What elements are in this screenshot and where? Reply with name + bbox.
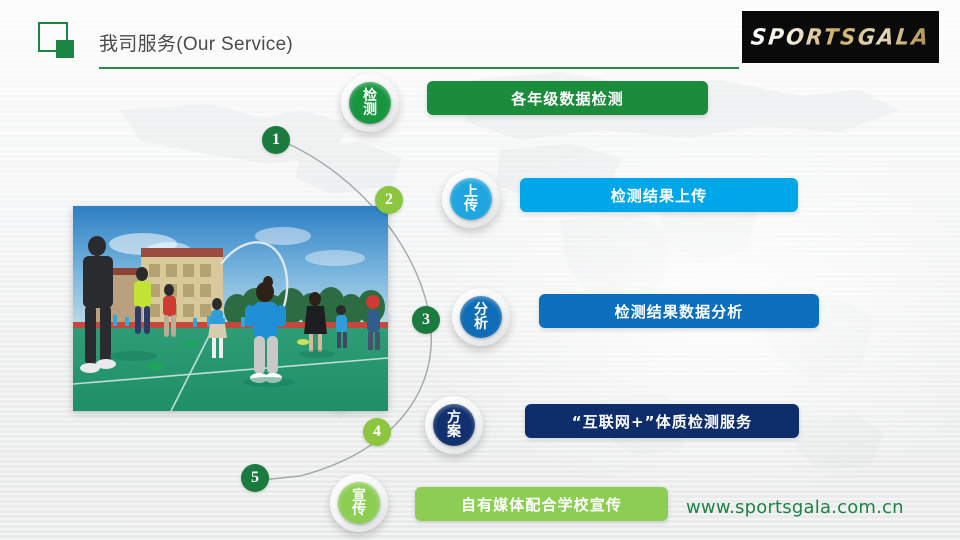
stage-label-analysis-char1: 分: [474, 303, 488, 317]
logo-filled-square: [56, 40, 74, 58]
step-number-5: 5: [241, 464, 269, 492]
stage-circle-promotion-inner: 宣 传: [338, 482, 380, 524]
slide-canvas: 我司服务(Our Service) SPORTSGALA: [0, 0, 960, 540]
stage-label-analysis-char2: 析: [474, 317, 488, 331]
stage-bar-promotion[interactable]: 自有媒体配合学校宣传: [415, 487, 668, 521]
stage-bar-plan[interactable]: “互联网+”体质检测服务: [525, 404, 799, 438]
brand-logo-text: SPORTSGALA: [750, 24, 932, 49]
stage-label-plan-char2: 案: [447, 425, 461, 439]
page-title: 我司服务(Our Service): [99, 29, 293, 56]
stage-label-promotion-char2: 传: [352, 503, 366, 517]
stage-bar-upload[interactable]: 检测结果上传: [520, 178, 798, 212]
playground-photo: [73, 206, 388, 411]
step-number-4: 4: [363, 418, 391, 446]
stage-circle-detection-inner: 检 测: [349, 82, 391, 124]
step-number-2: 2: [375, 186, 403, 214]
stage-label-upload-char1: 上: [464, 185, 478, 199]
stage-circle-analysis[interactable]: 分 析: [452, 288, 510, 346]
stage-circle-analysis-inner: 分 析: [460, 296, 502, 338]
stage-circle-plan[interactable]: 方 案: [425, 396, 483, 454]
brand-logo-badge: SPORTSGALA: [742, 11, 939, 63]
stage-bar-detection[interactable]: 各年级数据检测: [427, 81, 708, 115]
website-url[interactable]: www.sportsgala.com.cn: [686, 497, 904, 518]
step-number-1: 1: [262, 126, 290, 154]
green-square-logo-icon: [38, 22, 74, 58]
stage-label-detection-char2: 测: [363, 103, 377, 117]
stage-circle-plan-inner: 方 案: [433, 404, 475, 446]
slide-header: 我司服务(Our Service) SPORTSGALA: [0, 0, 960, 72]
stage-circle-upload-inner: 上 传: [450, 178, 492, 220]
stage-label-plan-char1: 方: [447, 411, 461, 425]
step-number-3: 3: [412, 306, 440, 334]
stage-circle-upload[interactable]: 上 传: [442, 170, 500, 228]
stage-circle-detection[interactable]: 检 测: [341, 74, 399, 132]
title-underline: [99, 67, 739, 69]
stage-bar-analysis[interactable]: 检测结果数据分析: [539, 294, 819, 328]
stage-label-detection-char1: 检: [363, 89, 377, 103]
stage-label-upload-char2: 传: [464, 199, 478, 213]
stage-label-promotion-char1: 宣: [352, 489, 366, 503]
stage-circle-promotion[interactable]: 宣 传: [330, 474, 388, 532]
